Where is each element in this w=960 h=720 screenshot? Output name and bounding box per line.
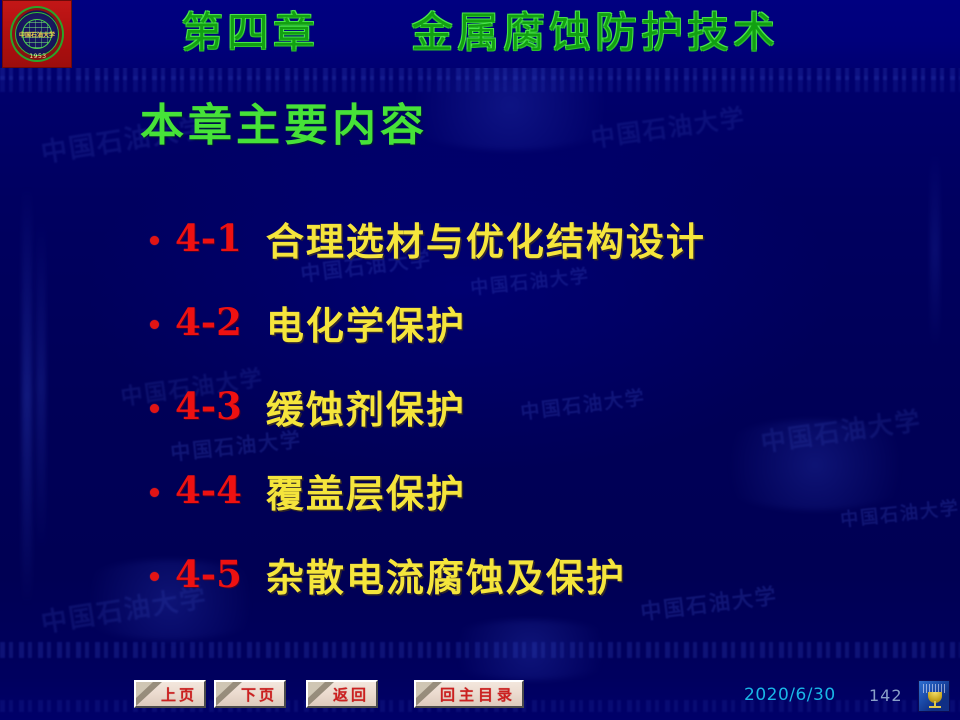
bullet-dot-icon <box>150 572 159 581</box>
footer-date: 2020/6/30 <box>744 685 836 705</box>
slide-canvas: 中国石油大学 中国石油大学 中国石油大学 中国石油大学 中国石油大学 中国石油大… <box>0 0 960 720</box>
outline-item-number: 4-1 <box>175 216 242 260</box>
bullet-dot-icon <box>150 404 159 413</box>
main-menu-label: 回主目录 <box>422 684 516 705</box>
outline-item-label: 缓蚀剂保护 <box>266 379 466 434</box>
outline-item-label: 电化学保护 <box>266 295 466 350</box>
next-page-label: 下页 <box>223 684 277 705</box>
footer-bar: 上页 下页 返回 回主目录 2020/6/30 142 <box>0 674 960 720</box>
outline-item-number: 4-3 <box>175 384 242 428</box>
outline-list: 4-1 合理选材与优化结构设计 4-2 电化学保护 4-3 缓蚀剂保护 4-4 … <box>150 196 940 616</box>
footer-page-number: 142 <box>869 686 903 705</box>
slide-header-title: 第四章 金属腐蚀防护技术 <box>0 4 960 62</box>
outline-item-label: 合理选材与优化结构设计 <box>266 211 706 266</box>
main-menu-button[interactable]: 回主目录 <box>414 680 524 708</box>
list-item[interactable]: 4-3 缓蚀剂保护 <box>150 364 940 448</box>
watermark-text: 中国石油大学 <box>588 97 747 153</box>
footer-emblem-icon <box>918 680 950 712</box>
bullet-dot-icon <box>150 320 159 329</box>
list-item[interactable]: 4-1 合理选材与优化结构设计 <box>150 196 940 280</box>
outline-item-label: 杂散电流腐蚀及保护 <box>266 547 626 602</box>
header-bar: 第四章 金属腐蚀防护技术 <box>0 0 960 68</box>
logo-chinese-name: 中国石油大学 <box>17 30 57 39</box>
logo-founding-year: 1953 <box>3 53 73 60</box>
bullet-dot-icon <box>150 488 159 497</box>
list-item[interactable]: 4-2 电化学保护 <box>150 280 940 364</box>
previous-page-button[interactable]: 上页 <box>134 680 206 708</box>
outline-item-number: 4-5 <box>175 552 242 596</box>
list-item[interactable]: 4-4 覆盖层保护 <box>150 448 940 532</box>
outline-item-number: 4-2 <box>175 300 242 344</box>
emblem-base-icon <box>929 706 941 708</box>
outline-item-label: 覆盖层保护 <box>266 463 466 518</box>
previous-page-label: 上页 <box>143 684 197 705</box>
university-logo-icon: 中国石油大学 1953 <box>2 0 72 68</box>
list-item[interactable]: 4-5 杂散电流腐蚀及保护 <box>150 532 940 616</box>
content-title: 本章主要内容 <box>140 98 428 154</box>
outline-item-number: 4-4 <box>175 468 242 512</box>
next-page-button[interactable]: 下页 <box>214 680 286 708</box>
return-button[interactable]: 返回 <box>306 680 378 708</box>
return-label: 返回 <box>315 684 369 705</box>
bullet-dot-icon <box>150 236 159 245</box>
